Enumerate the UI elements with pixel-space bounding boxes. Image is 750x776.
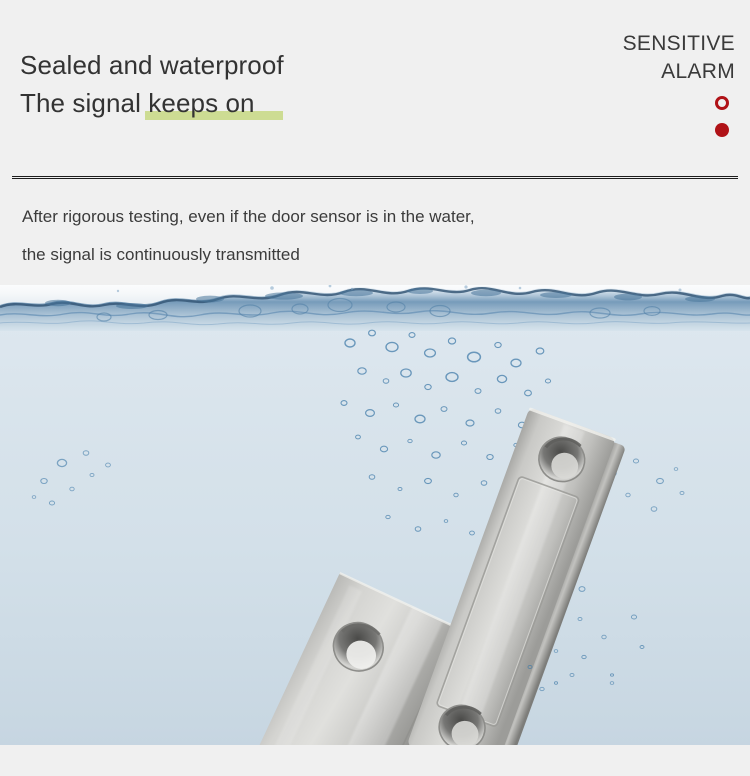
alarm-indicator-group [623,96,735,137]
page-footer-spacer [0,745,750,776]
alarm-badge-block: SENSITIVE ALARM [623,30,735,137]
subcopy-line-2: the signal is continuously transmitted [22,236,722,274]
header-divider [12,176,738,179]
alarm-indicator-hollow-icon [715,96,729,110]
headline-line-2: The signal keeps on [20,84,255,122]
headline-block: Sealed and waterproof The signal keeps o… [20,46,440,122]
underwater-illustration [0,285,750,745]
headline-line-1: Sealed and waterproof [20,46,440,84]
subcopy-block: After rigorous testing, even if the door… [22,198,722,274]
underwater-scene [0,285,750,745]
alarm-indicator-solid-icon [715,123,729,137]
badge-line-2: ALARM [623,58,735,86]
bubble-cluster-left [32,451,110,505]
product-feature-page: Sealed and waterproof The signal keeps o… [0,0,750,776]
header-section: Sealed and waterproof The signal keeps o… [0,0,750,285]
water-surface [0,285,750,331]
headline-line-2-plain: The signal [20,88,148,118]
subcopy-line-1: After rigorous testing, even if the door… [22,198,722,236]
badge-line-1: SENSITIVE [623,30,735,58]
headline-highlight: keeps on [148,84,254,122]
